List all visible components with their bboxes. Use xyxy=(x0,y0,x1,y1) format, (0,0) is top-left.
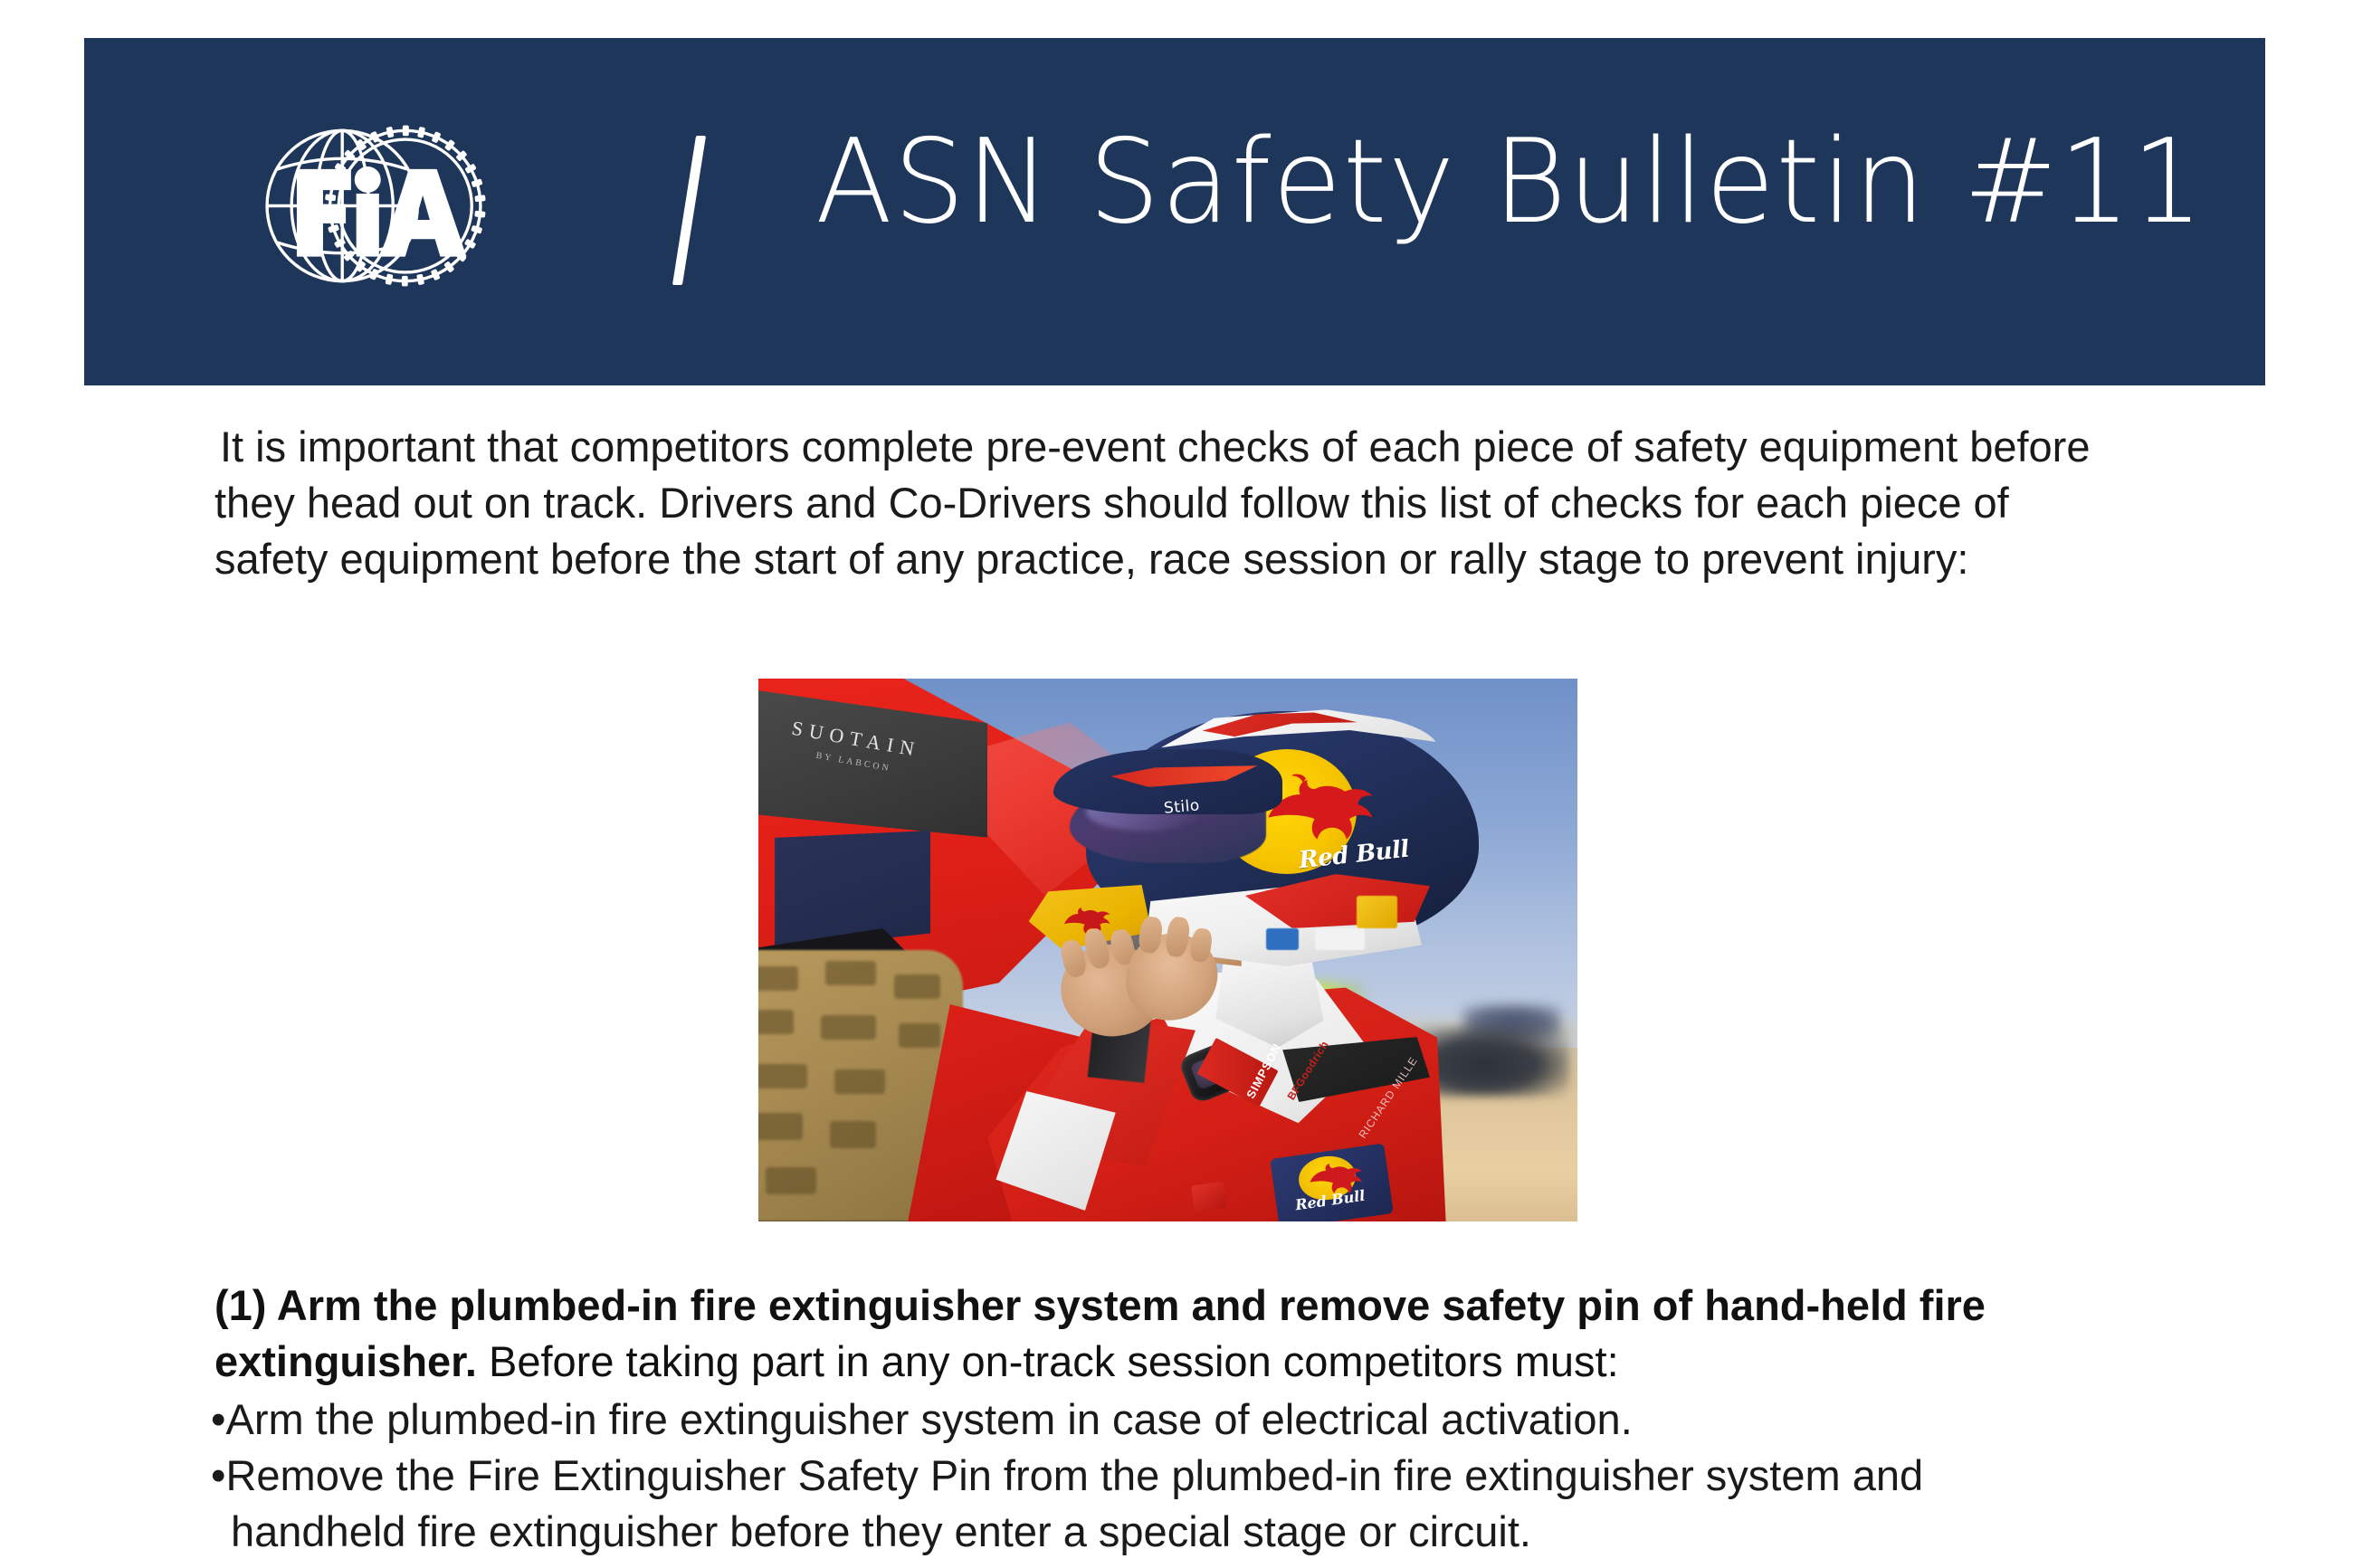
section-1-heading-rest: Before taking part in any on-track sessi… xyxy=(477,1337,1619,1385)
photo-helmet-brand-text: Stilo xyxy=(1163,796,1200,817)
section-1-heading: (1) Arm the plumbed-in fire extinguisher… xyxy=(214,1278,2110,1390)
list-item: •Remove the Fire Extinguisher Safety Pin… xyxy=(211,1448,2157,1560)
bullet-icon: • xyxy=(211,1395,225,1443)
page-header: ASN Safety Bulletin #11 xyxy=(84,38,2265,385)
list-item-continuation: handheld fire extinguisher before they e… xyxy=(211,1504,2157,1560)
photo-helmet-sticker-white xyxy=(1315,928,1364,950)
photo-suit-small-patch xyxy=(1191,1182,1227,1213)
photo-helmet-sticker-yellow xyxy=(1357,896,1397,928)
photo-helmet-sticker-blue xyxy=(1266,928,1299,950)
page-title: ASN Safety Bulletin #11 xyxy=(815,125,2205,241)
fia-logo xyxy=(243,109,505,303)
bullet-icon: • xyxy=(211,1451,225,1499)
list-item: •Arm the plumbed-in fire extinguisher sy… xyxy=(211,1392,2157,1448)
header-separator-slash xyxy=(672,136,706,285)
intro-paragraph: It is important that competitors complet… xyxy=(214,419,2101,587)
list-item-text: Arm the plumbed-in fire extinguisher sys… xyxy=(225,1395,1632,1443)
section-1-bullet-list: •Arm the plumbed-in fire extinguisher sy… xyxy=(211,1392,2157,1560)
bulletin-photo: SUOTAIN BY LABCON Red Bull Stil xyxy=(758,679,1577,1221)
list-item-text: Remove the Fire Extinguisher Safety Pin … xyxy=(225,1451,1923,1499)
photo-car-navy-panel xyxy=(775,831,930,950)
